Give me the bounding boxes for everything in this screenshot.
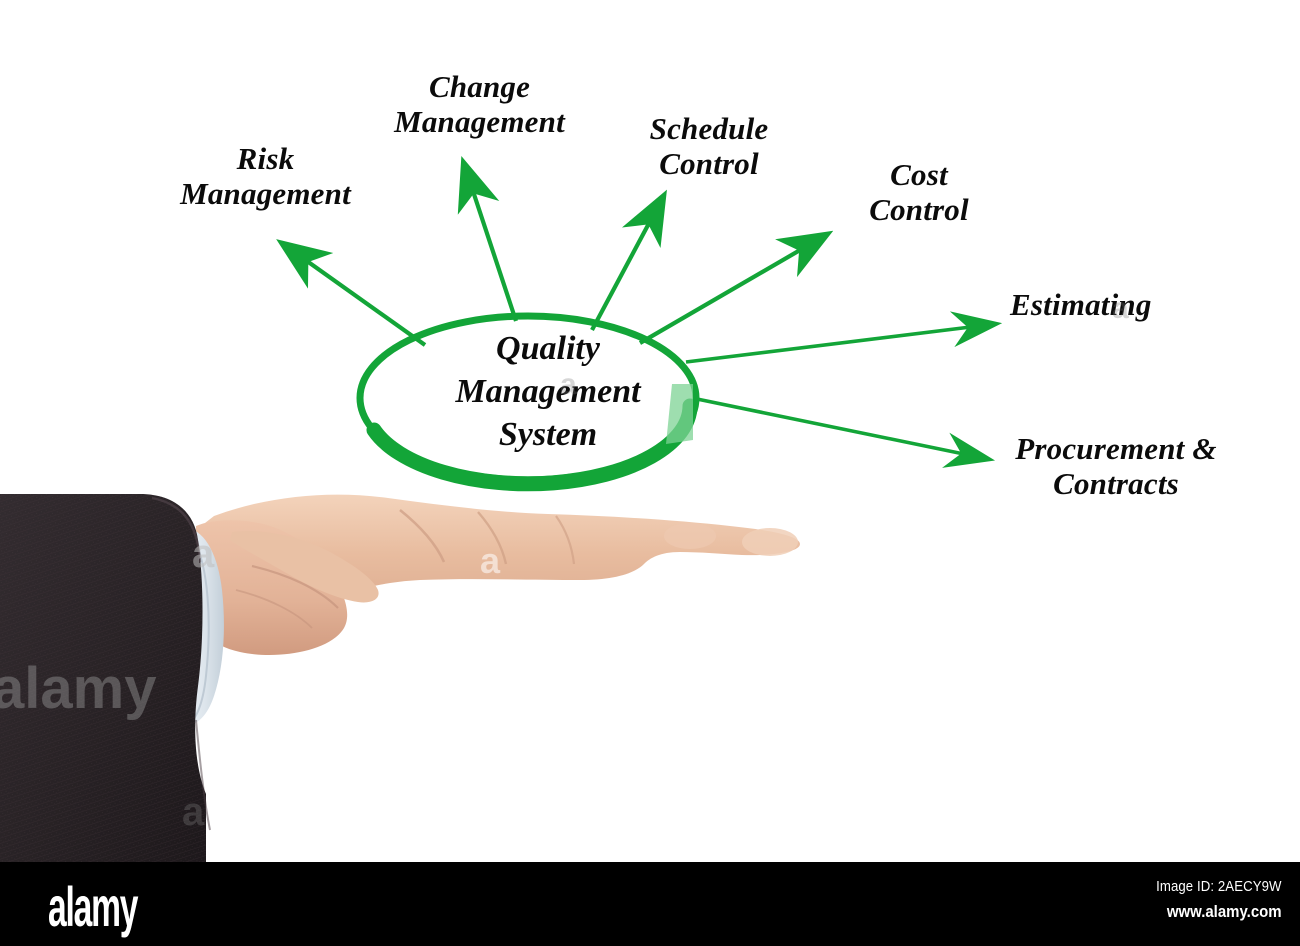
fingertip-highlight — [742, 528, 798, 556]
connector-risk-management — [283, 244, 425, 345]
connector-procurement-contracts — [697, 399, 988, 459]
connector-schedule-control — [592, 197, 663, 330]
node-label-change-management: Change Management — [372, 70, 587, 139]
center-node-label: Quality Management System — [418, 328, 678, 456]
hand-photo-artwork — [0, 470, 840, 862]
stock-photo-footer-bar: alamy Image ID: 2AECY9W www.alamy.com — [0, 862, 1300, 946]
node-label-estimating: Estimating — [1010, 288, 1195, 323]
screenshot-canvas: Risk Management Change Management Schedu… — [0, 0, 1300, 946]
node-label-risk-management: Risk Management — [158, 142, 373, 211]
connector-change-management — [464, 164, 516, 321]
connector-estimating — [686, 324, 995, 362]
node-label-cost-control: Cost Control — [835, 158, 1003, 227]
fingertip-highlight-2 — [664, 523, 716, 549]
alamy-logo: alamy — [48, 874, 137, 939]
node-label-procurement-contracts: Procurement & Contracts — [1002, 432, 1230, 501]
image-id-text: Image ID: 2AECY9W — [1157, 878, 1282, 895]
connector-cost-control — [640, 235, 826, 343]
alamy-url-text: www.alamy.com — [1157, 902, 1282, 922]
hand-group — [192, 495, 800, 655]
node-label-schedule-control: Schedule Control — [620, 112, 798, 181]
suit-sleeve-texture — [0, 494, 206, 862]
footer-meta: Image ID: 2AECY9W www.alamy.com — [1139, 878, 1282, 922]
